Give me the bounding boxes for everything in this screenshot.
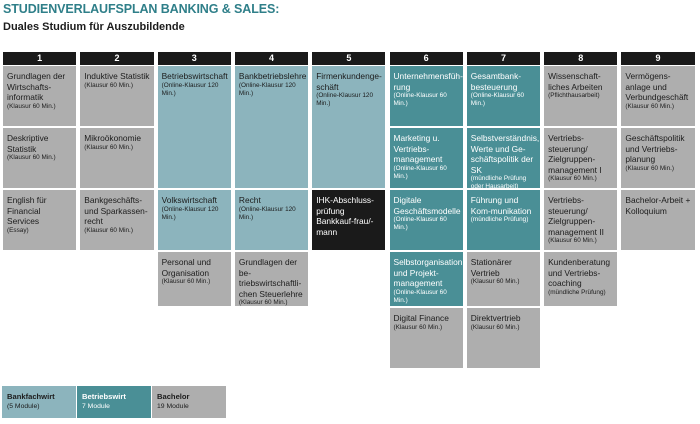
module-note: (Klausur 60 Min.) — [471, 324, 536, 332]
module-title: Recht — [239, 195, 304, 206]
title-block: STUDIENVERLAUFSPLAN BANKING & SALES: Dua… — [3, 2, 697, 34]
module-cell-c4r12[interactable]: Bankbetriebslehre (Online-Klausur 120 Mi… — [235, 66, 308, 188]
module-note: (Online-Klausur 60 Min.) — [394, 165, 459, 181]
module-title: Wissenschaft-liches Arbeiten — [548, 71, 613, 92]
module-title: Personal und Organisation — [162, 257, 227, 278]
module-title: Unternehmensfüh-rung — [394, 71, 459, 92]
module-cell-c8r4[interactable]: Kundenberatung und Vertriebs-coaching (m… — [544, 252, 617, 306]
module-title: Geschäftspolitik und Vertriebs-planung — [625, 133, 690, 165]
module-cell-c3r12[interactable]: Betriebswirtschaft (Online-Klausur 120 M… — [158, 66, 231, 188]
module-cell-c6r1[interactable]: Unternehmensfüh-rung (Online-Klausur 60 … — [390, 66, 463, 126]
module-note: (Klausur 60 Min.) — [84, 82, 149, 90]
semester-column-8: 8 Wissenschaft-liches Arbeiten (Pflichth… — [543, 52, 618, 370]
legend-label: Bankfachwirt — [7, 392, 71, 402]
module-note: (Klausur 60 Min.) — [394, 324, 459, 332]
module-note: (Klausur 60 Min.) — [548, 175, 613, 183]
module-title: Selbstorganisation und Projekt-managemen… — [394, 257, 459, 289]
module-note: (Klausur 60 Min.) — [625, 103, 690, 111]
module-title: Induktive Statistik — [84, 71, 149, 82]
module-title: Direktvertrieb — [471, 313, 536, 324]
semester-column-9: 9 Vermögens-anlage und Verbundgeschäft (… — [620, 52, 695, 370]
module-cell-c3r4[interactable]: Personal und Organisation (Klausur 60 Mi… — [158, 252, 231, 306]
page-title: STUDIENVERLAUFSPLAN BANKING & SALES: — [3, 2, 697, 17]
column-header-6: 6 — [390, 52, 463, 65]
module-cell-c5r3-ihk-exam[interactable]: IHK-Abschluss-prüfung Bankkauf-frau/-man… — [312, 190, 385, 250]
module-title: Digital Finance — [394, 313, 459, 324]
column-header-4: 4 — [235, 52, 308, 65]
module-cell-c8r3[interactable]: Vertriebs-steuerung/ Zielgruppen-managem… — [544, 190, 617, 250]
module-cell-c8r1[interactable]: Wissenschaft-liches Arbeiten (Pflichthau… — [544, 66, 617, 126]
column-header-3: 3 — [158, 52, 231, 65]
module-title: Vertriebs-steuerung/ Zielgruppen-managem… — [548, 133, 613, 175]
module-cell-c6r5[interactable]: Digital Finance (Klausur 60 Min.) — [390, 308, 463, 368]
module-title: Mikroökonomie — [84, 133, 149, 144]
semester-column-1: 1 Grundlagen der Wirtschafts-informatik … — [2, 52, 77, 370]
module-note: (Online-Klausur 120 Min.) — [239, 206, 304, 222]
module-note: (Klausur 60 Min.) — [7, 154, 72, 162]
module-cell-c2r1[interactable]: Induktive Statistik (Klausur 60 Min.) — [80, 66, 153, 126]
module-note: (mündliche Prüfung) — [548, 289, 613, 297]
legend-item-betriebswirt[interactable]: Betriebswirt 7 Module — [77, 386, 151, 418]
module-note: (mündliche Prüfung) — [471, 216, 536, 224]
module-cell-c1r3[interactable]: English für Financial Services (Essay) — [3, 190, 76, 250]
module-title: Stationärer Vertrieb — [471, 257, 536, 278]
module-title: Grundlagen der Wirtschafts-informatik — [7, 71, 72, 103]
semester-column-3: 3 Betriebswirtschaft (Online-Klausur 120… — [157, 52, 232, 370]
module-note: (Klausur 60 Min.) — [548, 237, 613, 245]
module-title: Deskriptive Statistik — [7, 133, 72, 154]
module-note: (Online-Klausur 120 Min.) — [162, 206, 227, 222]
module-note: (Pflichthausarbeit) — [548, 92, 613, 100]
module-cell-c6r2[interactable]: Marketing u. Vertriebs-management (Onlin… — [390, 128, 463, 188]
module-cell-c9r3[interactable]: Bachelor-Arbeit + Kolloquium — [621, 190, 694, 250]
module-cell-c9r2[interactable]: Geschäftspolitik und Vertriebs-planung (… — [621, 128, 694, 188]
module-title: Grundlagen der be-triebswirtschaftli-che… — [239, 257, 304, 299]
module-cell-c9r1[interactable]: Vermögens-anlage und Verbundgeschäft (Kl… — [621, 66, 694, 126]
module-title: Bankgeschäfts- und Sparkassen-recht — [84, 195, 149, 227]
module-cell-c7r3[interactable]: Führung und Kom-munikation (mündliche Pr… — [467, 190, 540, 250]
module-cell-c1r2[interactable]: Deskriptive Statistik (Klausur 60 Min.) — [3, 128, 76, 188]
module-title: IHK-Abschluss-prüfung Bankkauf-frau/-man… — [316, 195, 381, 237]
column-header-1: 1 — [3, 52, 76, 65]
module-title: Kundenberatung und Vertriebs-coaching — [548, 257, 613, 289]
module-title: English für Financial Services — [7, 195, 72, 227]
legend-item-bankfachwirt[interactable]: Bankfachwirt (5 Module) — [2, 386, 76, 418]
module-title: Digitale Geschäftsmodelle — [394, 195, 459, 216]
column-header-2: 2 — [80, 52, 153, 65]
module-title: Marketing u. Vertriebs-management — [394, 133, 459, 165]
module-cell-c2r3[interactable]: Bankgeschäfts- und Sparkassen-recht (Kla… — [80, 190, 153, 250]
module-cell-c7r2[interactable]: Selbstverständnis, Werte und Ge-schäftsp… — [467, 128, 540, 188]
module-note: (Online-Klausur 60 Min.) — [394, 289, 459, 305]
module-note: (Klausur 60 Min.) — [239, 299, 304, 306]
legend-sublabel: 7 Module — [82, 402, 146, 411]
legend: Bankfachwirt (5 Module) Betriebswirt 7 M… — [2, 386, 227, 418]
module-note: (Klausur 60 Min.) — [471, 278, 536, 286]
page-subtitle: Duales Studium für Auszubildende — [3, 20, 697, 34]
module-note: (Klausur 60 Min.) — [84, 227, 149, 235]
module-title: Vertriebs-steuerung/ Zielgruppen-managem… — [548, 195, 613, 237]
module-cell-c2r2[interactable]: Mikroökonomie (Klausur 60 Min.) — [80, 128, 153, 188]
module-note: (Klausur 60 Min.) — [625, 165, 690, 173]
legend-label: Betriebswirt — [82, 392, 146, 402]
module-cell-c7r5[interactable]: Direktvertrieb (Klausur 60 Min.) — [467, 308, 540, 368]
module-cell-c6r3[interactable]: Digitale Geschäftsmodelle (Online-Klausu… — [390, 190, 463, 250]
module-note: (Klausur 60 Min.) — [84, 144, 149, 152]
module-title: Firmenkundenge-schäft — [316, 71, 381, 92]
module-title: Führung und Kom-munikation — [471, 195, 536, 216]
semester-column-2: 2 Induktive Statistik (Klausur 60 Min.) … — [79, 52, 154, 370]
column-header-8: 8 — [544, 52, 617, 65]
module-cell-c7r1[interactable]: Gesamtbank-besteuerung (Online-Klausur 6… — [467, 66, 540, 126]
semester-column-7: 7 Gesamtbank-besteuerung (Online-Klausur… — [466, 52, 541, 370]
module-title: Bankbetriebslehre — [239, 71, 304, 82]
module-note: (Online-Klausur 60 Min.) — [471, 92, 536, 108]
module-note: (Online-Klausur 120 Min.) — [316, 92, 381, 108]
module-cell-c4r4[interactable]: Grundlagen der be-triebswirtschaftli-che… — [235, 252, 308, 306]
legend-sublabel: 19 Module — [157, 402, 221, 411]
study-plan-grid: 1 Grundlagen der Wirtschafts-informatik … — [2, 52, 698, 370]
module-note: (Essay) — [7, 227, 72, 235]
module-title: Betriebswirtschaft — [162, 71, 227, 82]
module-note: (Klausur 60 Min.) — [162, 278, 227, 286]
module-cell-c7r4[interactable]: Stationärer Vertrieb (Klausur 60 Min.) — [467, 252, 540, 306]
column-header-7: 7 — [467, 52, 540, 65]
module-title: Bachelor-Arbeit + Kolloquium — [625, 195, 690, 216]
module-note: (Online-Klausur 120 Min.) — [239, 82, 304, 98]
module-title: Gesamtbank-besteuerung — [471, 71, 536, 92]
column-header-9: 9 — [621, 52, 694, 65]
column-header-5: 5 — [312, 52, 385, 65]
module-cell-c5r12[interactable]: Firmenkundenge-schäft (Online-Klausur 12… — [312, 66, 385, 188]
module-cell-c8r2[interactable]: Vertriebs-steuerung/ Zielgruppen-managem… — [544, 128, 617, 188]
module-title: Volkswirtschaft — [162, 195, 227, 206]
module-cell-c4r3[interactable]: Recht (Online-Klausur 120 Min.) — [235, 190, 308, 250]
legend-label: Bachelor — [157, 392, 221, 402]
module-cell-c6r4[interactable]: Selbstorganisation und Projekt-managemen… — [390, 252, 463, 306]
module-note: (mündliche Prüfung oder Hausarbeit) — [471, 175, 536, 188]
legend-sublabel: (5 Module) — [7, 402, 71, 411]
module-title: Selbstverständnis, Werte und Ge-schäftsp… — [471, 133, 536, 175]
legend-item-bachelor[interactable]: Bachelor 19 Module — [152, 386, 226, 418]
module-title: Vermögens-anlage und Verbundgeschäft — [625, 71, 690, 103]
semester-column-5: 5 Firmenkundenge-schäft (Online-Klausur … — [311, 52, 386, 370]
module-note: (Online-Klausur 120 Min.) — [162, 82, 227, 98]
module-note: (Online-Klausur 60 Min.) — [394, 216, 459, 232]
module-cell-c3r3[interactable]: Volkswirtschaft (Online-Klausur 120 Min.… — [158, 190, 231, 250]
module-note: (Klausur 60 Min.) — [7, 103, 72, 111]
module-cell-c1r1[interactable]: Grundlagen der Wirtschafts-informatik (K… — [3, 66, 76, 126]
semester-column-4: 4 Bankbetriebslehre (Online-Klausur 120 … — [234, 52, 309, 370]
module-note: (Online-Klausur 60 Min.) — [394, 92, 459, 108]
semester-column-6: 6 Unternehmensfüh-rung (Online-Klausur 6… — [389, 52, 464, 370]
